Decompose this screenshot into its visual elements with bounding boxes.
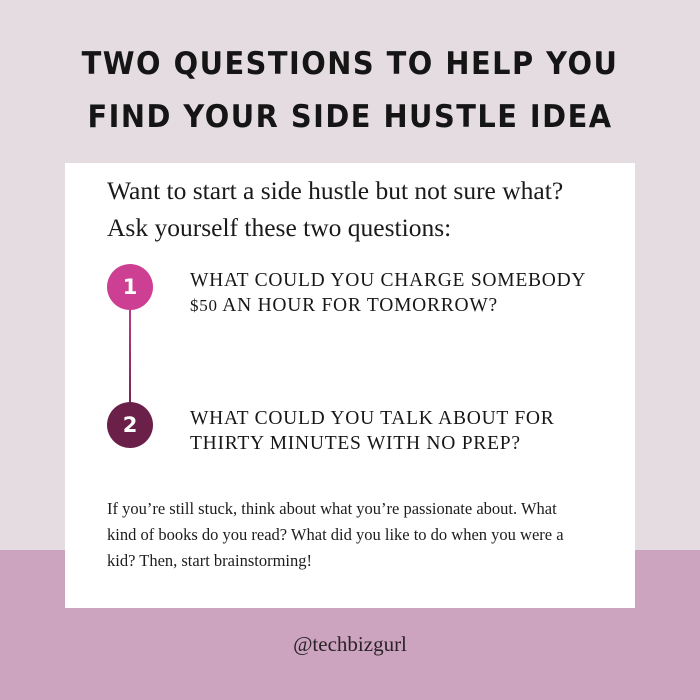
outro-paragraph: If you’re still stuck, think about what … xyxy=(107,496,587,574)
question-text-2: WHAT COULD YOU TALK ABOUT FOR THIRTY MIN… xyxy=(190,402,597,456)
question-2-part-before: WHAT COULD YOU TALK ABOUT FOR THIRTY MIN… xyxy=(190,408,555,454)
question-1-part-after: AN HOUR FOR TOMORROW? xyxy=(218,295,498,316)
question-1-amount: $50 xyxy=(190,296,218,315)
question-text-1: WHAT COULD YOU CHARGE SOMEBODY $50 AN HO… xyxy=(190,264,597,318)
headline-line-2: FIND YOUR SIDE HUSTLE IDEA xyxy=(25,91,676,144)
list-item: 1 WHAT COULD YOU CHARGE SOMEBODY $50 AN … xyxy=(107,264,597,318)
intro-paragraph: Want to start a side hustle but not sure… xyxy=(107,172,597,246)
questions-list: 1 WHAT COULD YOU CHARGE SOMEBODY $50 AN … xyxy=(107,264,597,456)
list-item: 2 WHAT COULD YOU TALK ABOUT FOR THIRTY M… xyxy=(107,402,597,456)
step-number-badge-1: 1 xyxy=(107,264,153,310)
step-number-badge-2: 2 xyxy=(107,402,153,448)
social-handle: @techbizgurl xyxy=(0,632,700,657)
content-card: Want to start a side hustle but not sure… xyxy=(65,163,635,608)
headline-line-1: TWO QUESTIONS TO HELP YOU xyxy=(25,38,676,91)
question-1-part-before: WHAT COULD YOU CHARGE SOMEBODY xyxy=(190,270,586,291)
poster-headline: TWO QUESTIONS TO HELP YOU FIND YOUR SIDE… xyxy=(25,38,676,144)
poster-canvas: TWO QUESTIONS TO HELP YOU FIND YOUR SIDE… xyxy=(0,0,700,700)
